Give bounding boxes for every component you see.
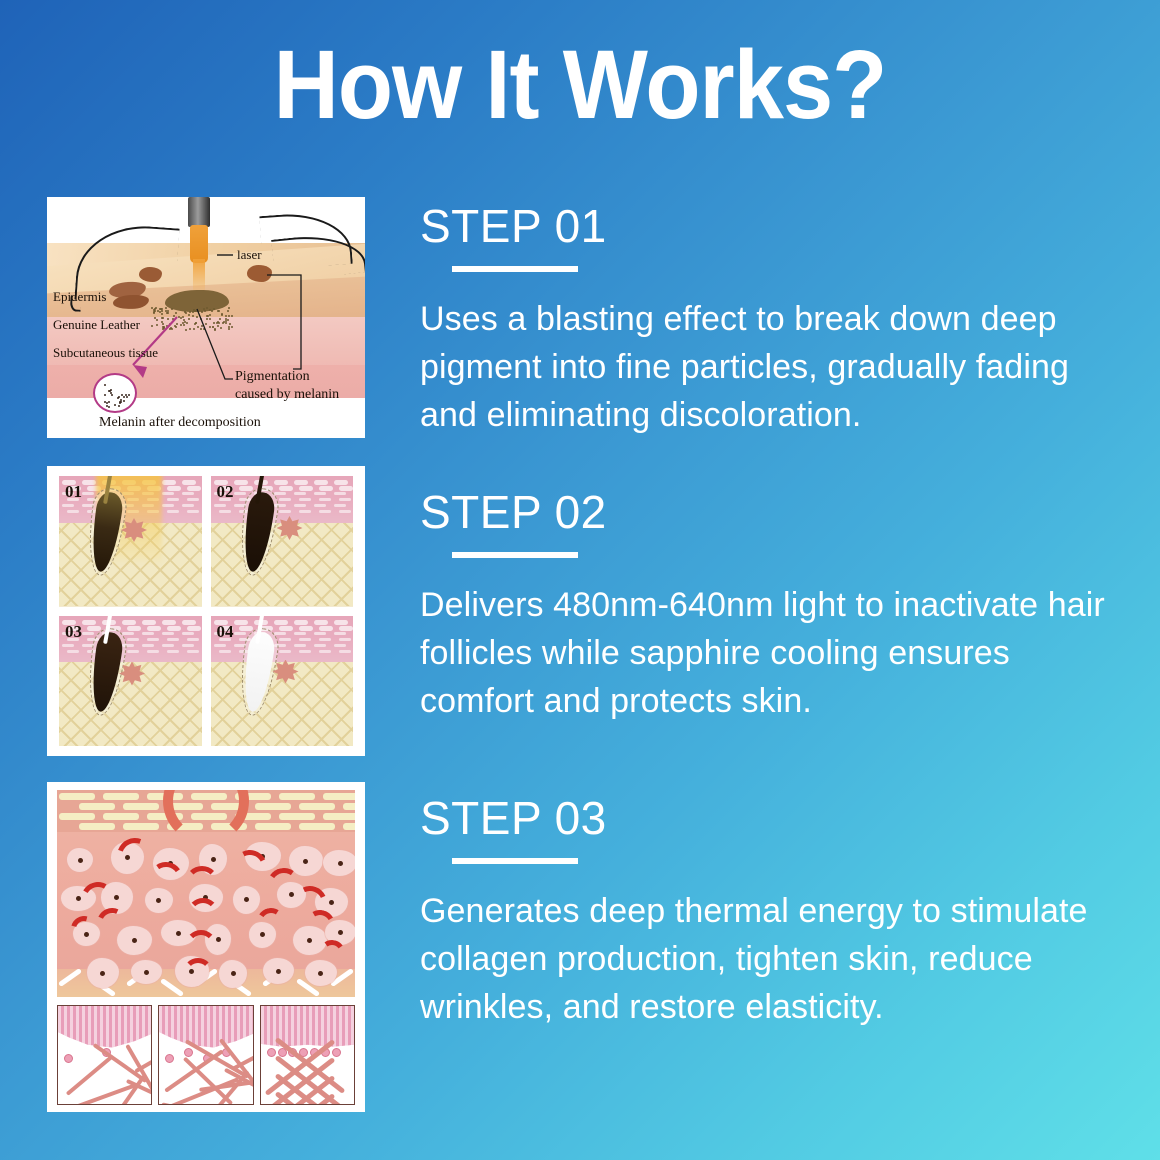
step-2-title: STEP 02	[420, 488, 1130, 536]
melanin-decomposed-circle	[93, 373, 137, 413]
panel-number: 04	[217, 622, 234, 642]
thermal-energy-diagram	[57, 790, 355, 997]
how-it-works-infographic: How It Works?	[0, 0, 1160, 1160]
caption-melanin-after-decomposition: Melanin after decomposition	[99, 415, 261, 431]
step-1-underline	[452, 266, 578, 272]
thermal-energy-arc	[187, 898, 219, 930]
follicle-panel-01: 01	[59, 476, 202, 607]
step-2-text: STEP 02 Delivers 480nm-640nm light to in…	[420, 488, 1130, 725]
step-1-text: STEP 01 Uses a blasting effect to break …	[420, 202, 1130, 439]
step-3-body: Generates deep thermal energy to stimula…	[420, 887, 1130, 1031]
step-3-underline	[452, 858, 578, 864]
collagen-panel-3	[260, 1005, 355, 1105]
label-dermis: Genuine Leather	[53, 317, 140, 333]
sebaceous-gland-icon	[121, 518, 147, 542]
follicle-panel-02: 02	[211, 476, 354, 607]
follicle-panel-04: 04	[211, 616, 354, 747]
step-2-underline	[452, 552, 578, 558]
panel-number: 03	[65, 622, 82, 642]
step-row-2: 01020304 STEP 02 Delivers 480nm-640nm li…	[0, 466, 1160, 756]
step-3-title: STEP 03	[420, 794, 1130, 842]
collagen-fibers	[261, 1043, 354, 1104]
step-row-1: laser Epidermis Genuine Leather Subcutan…	[0, 197, 1160, 439]
collagen-panel-2	[158, 1005, 253, 1105]
step-1-body: Uses a blasting effect to break down dee…	[420, 295, 1130, 439]
thermal-energy-arc	[183, 958, 213, 988]
collagen-fibers	[58, 1043, 151, 1104]
figure-thermal-collagen	[47, 782, 365, 1112]
label-pigmentation-line1: Pigmentation	[235, 369, 310, 385]
label-epidermis: Epidermis	[53, 289, 106, 305]
sebaceous-gland-icon	[277, 516, 303, 540]
thermal-energy-arc	[185, 930, 217, 962]
label-laser: laser	[237, 247, 262, 263]
sebaceous-gland-icon	[119, 662, 145, 686]
panel-number: 01	[65, 482, 82, 502]
collagen-panel-1	[57, 1005, 152, 1105]
step-1-title: STEP 01	[420, 202, 1130, 250]
step-2-body: Delivers 480nm-640nm light to inactivate…	[420, 581, 1130, 725]
skin-cell	[323, 850, 355, 876]
panel-number: 02	[217, 482, 234, 502]
step-row-3: STEP 03 Generates deep thermal energy to…	[0, 782, 1160, 1112]
follicle-panel-03: 03	[59, 616, 202, 747]
sebaceous-gland-icon	[273, 660, 299, 684]
thermal-energy-arc	[185, 866, 219, 900]
page-title: How It Works?	[41, 34, 1120, 136]
follicle-panel-grid: 01020304	[59, 476, 353, 746]
label-pigmentation-line2: caused by melanin	[235, 387, 339, 403]
step-3-text: STEP 03 Generates deep thermal energy to…	[420, 794, 1130, 1031]
collagen-fibers	[159, 1043, 252, 1104]
figure-laser-pigment-diagram: laser Epidermis Genuine Leather Subcutan…	[47, 197, 365, 438]
collagen-progression-panels	[57, 1005, 355, 1105]
figure-hair-follicle-stages: 01020304	[47, 466, 365, 756]
label-subcutaneous-tissue: Subcutaneous tissue	[53, 345, 158, 361]
